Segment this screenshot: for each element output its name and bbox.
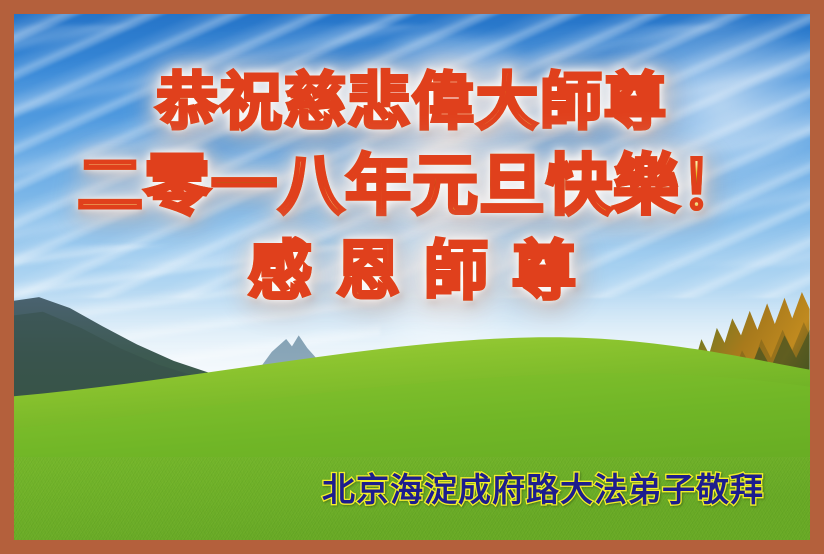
signature-text: 北京海淀成府路大法弟子敬拜 — [322, 463, 764, 511]
text-layer: 恭祝慈悲偉大師尊 二零一八年元旦快樂！ 感恩師尊 北京海淀成府路大法弟子敬拜 — [14, 14, 810, 540]
greeting-line-2: 二零一八年元旦快樂！ — [14, 152, 810, 218]
greeting-line-1: 恭祝慈悲偉大師尊 — [14, 71, 810, 133]
greeting-line-3: 感恩師尊 — [14, 240, 810, 304]
greeting-card: 恭祝慈悲偉大師尊 二零一八年元旦快樂！ 感恩師尊 北京海淀成府路大法弟子敬拜 — [0, 0, 824, 554]
